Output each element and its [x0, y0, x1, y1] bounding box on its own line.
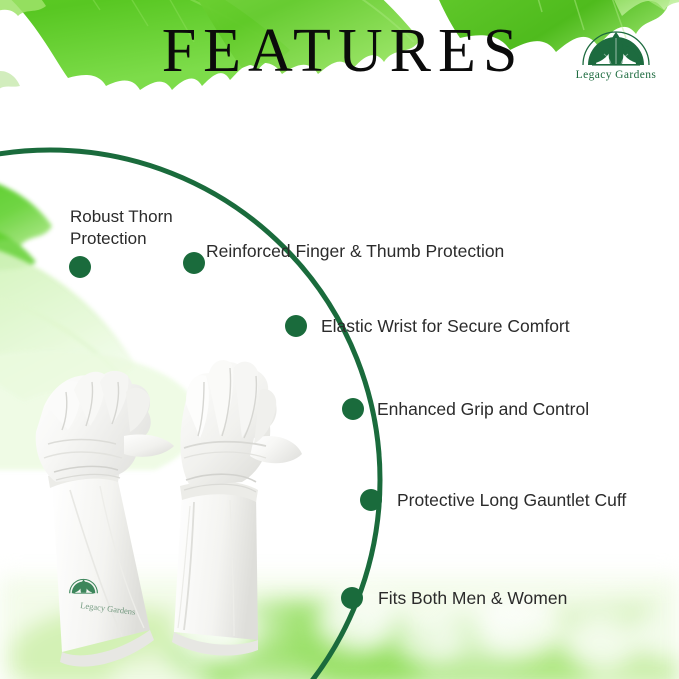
svg-text:Legacy Gardens: Legacy Gardens [80, 600, 136, 617]
arc-dot-enhanced-grip [342, 398, 364, 420]
feature-label-fits-both-men-women: Fits Both Men & Women [378, 587, 567, 609]
feature-label-protective-long-gauntlet-cuff: Protective Long Gauntlet Cuff [397, 489, 626, 511]
feature-label-elastic-wrist: Elastic Wrist for Secure Comfort [321, 315, 570, 337]
bottom-bokeh-decoration [0, 537, 679, 679]
feature-label-enhanced-grip: Enhanced Grip and Control [377, 398, 589, 420]
arc-dot-group [69, 252, 382, 609]
glove-left: Legacy Gardens [36, 371, 174, 667]
product-image-gloves: Legacy Gardens [4, 340, 304, 670]
infographic-canvas: FEATURES Legacy Gardens [0, 0, 679, 679]
arc-dot-robust-thorn-protection [69, 256, 91, 278]
arc-dot-elastic-wrist [285, 315, 307, 337]
arch-leaf-emblem-icon [579, 24, 653, 66]
arc-dot-fits-both-men-women [341, 587, 363, 609]
brand-name: Legacy Gardens [566, 69, 666, 81]
feature-label-robust-thorn-protection: Robust Thorn Protection [70, 206, 173, 250]
brand-logo: Legacy Gardens [566, 24, 666, 81]
glove-right [172, 360, 302, 655]
feature-arc [0, 0, 679, 679]
feature-label-reinforced-finger-thumb: Reinforced Finger & Thumb Protection [206, 240, 504, 262]
arc-dot-reinforced-finger-thumb [183, 252, 205, 274]
arc-dot-protective-long-gauntlet-cuff [360, 489, 382, 511]
arc-path [0, 150, 380, 679]
